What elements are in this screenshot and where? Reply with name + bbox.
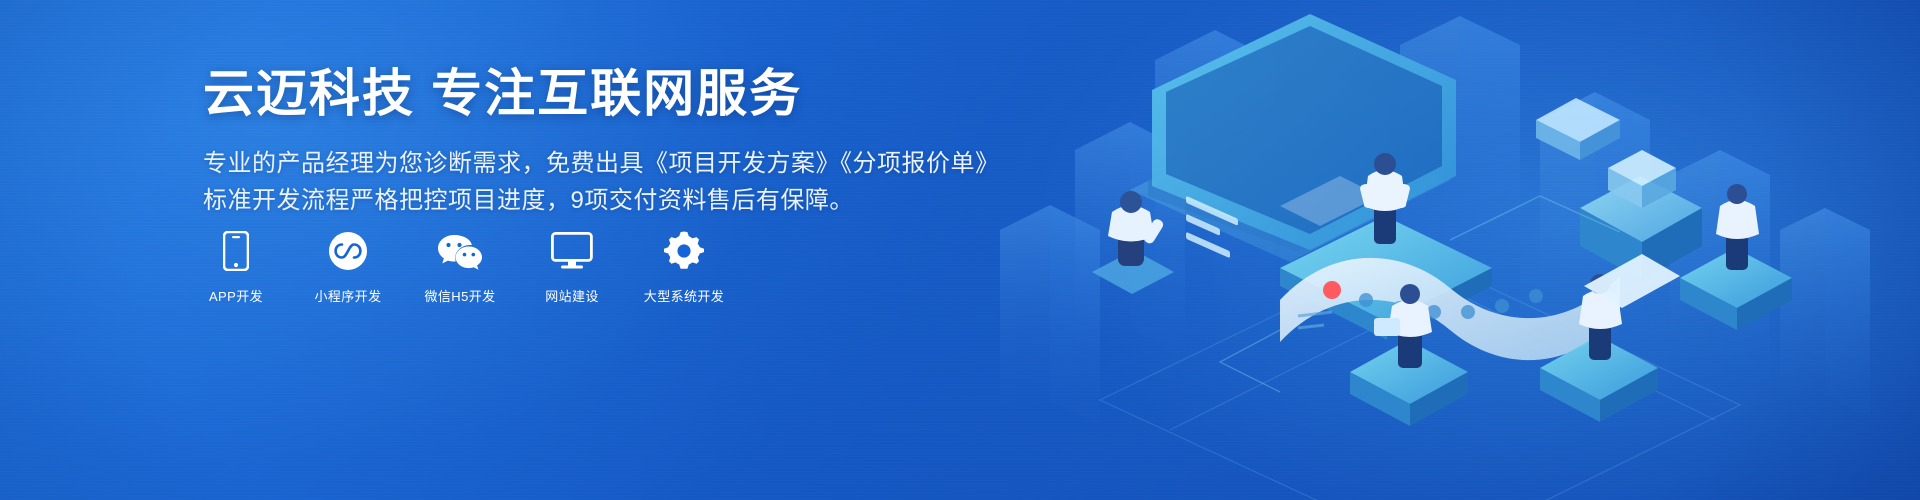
service-icon-row: APP开发 小程序开发 微信 xyxy=(200,230,720,305)
description-line-1: 专业的产品经理为您诊断需求，免费出具《项目开发方案》《分项报价单》 xyxy=(203,145,943,182)
service-label-app: APP开发 xyxy=(209,286,263,305)
banner-headline: 云迈科技 专注互联网服务 xyxy=(203,64,943,123)
service-item-wechat[interactable]: 微信H5开发 xyxy=(424,230,496,305)
service-label-mini-program: 小程序开发 xyxy=(314,286,381,305)
monitor-icon xyxy=(551,230,593,272)
service-label-wechat: 微信H5开发 xyxy=(424,286,495,305)
service-item-system[interactable]: 大型系统开发 xyxy=(648,230,720,305)
service-label-system: 大型系统开发 xyxy=(644,286,724,305)
service-item-mini-program[interactable]: 小程序开发 xyxy=(312,230,384,305)
mini-program-icon xyxy=(328,230,368,272)
gear-icon xyxy=(663,230,705,272)
service-label-website: 网站建设 xyxy=(545,286,599,305)
banner-description: 专业的产品经理为您诊断需求，免费出具《项目开发方案》《分项报价单》 标准开发流程… xyxy=(203,145,943,219)
banner-copy: 云迈科技 专注互联网服务 专业的产品经理为您诊断需求，免费出具《项目开发方案》《… xyxy=(203,64,943,219)
service-item-website[interactable]: 网站建设 xyxy=(536,230,608,305)
description-line-2: 标准开发流程严格把控项目进度，9项交付资料售后有保障。 xyxy=(203,182,943,219)
promo-banner: 云迈科技 专注互联网服务 专业的产品经理为您诊断需求，免费出具《项目开发方案》《… xyxy=(0,0,1920,500)
isometric-illustration xyxy=(980,0,1920,500)
service-item-app[interactable]: APP开发 xyxy=(200,230,272,305)
wechat-icon xyxy=(437,230,483,272)
mobile-phone-icon xyxy=(223,230,249,272)
